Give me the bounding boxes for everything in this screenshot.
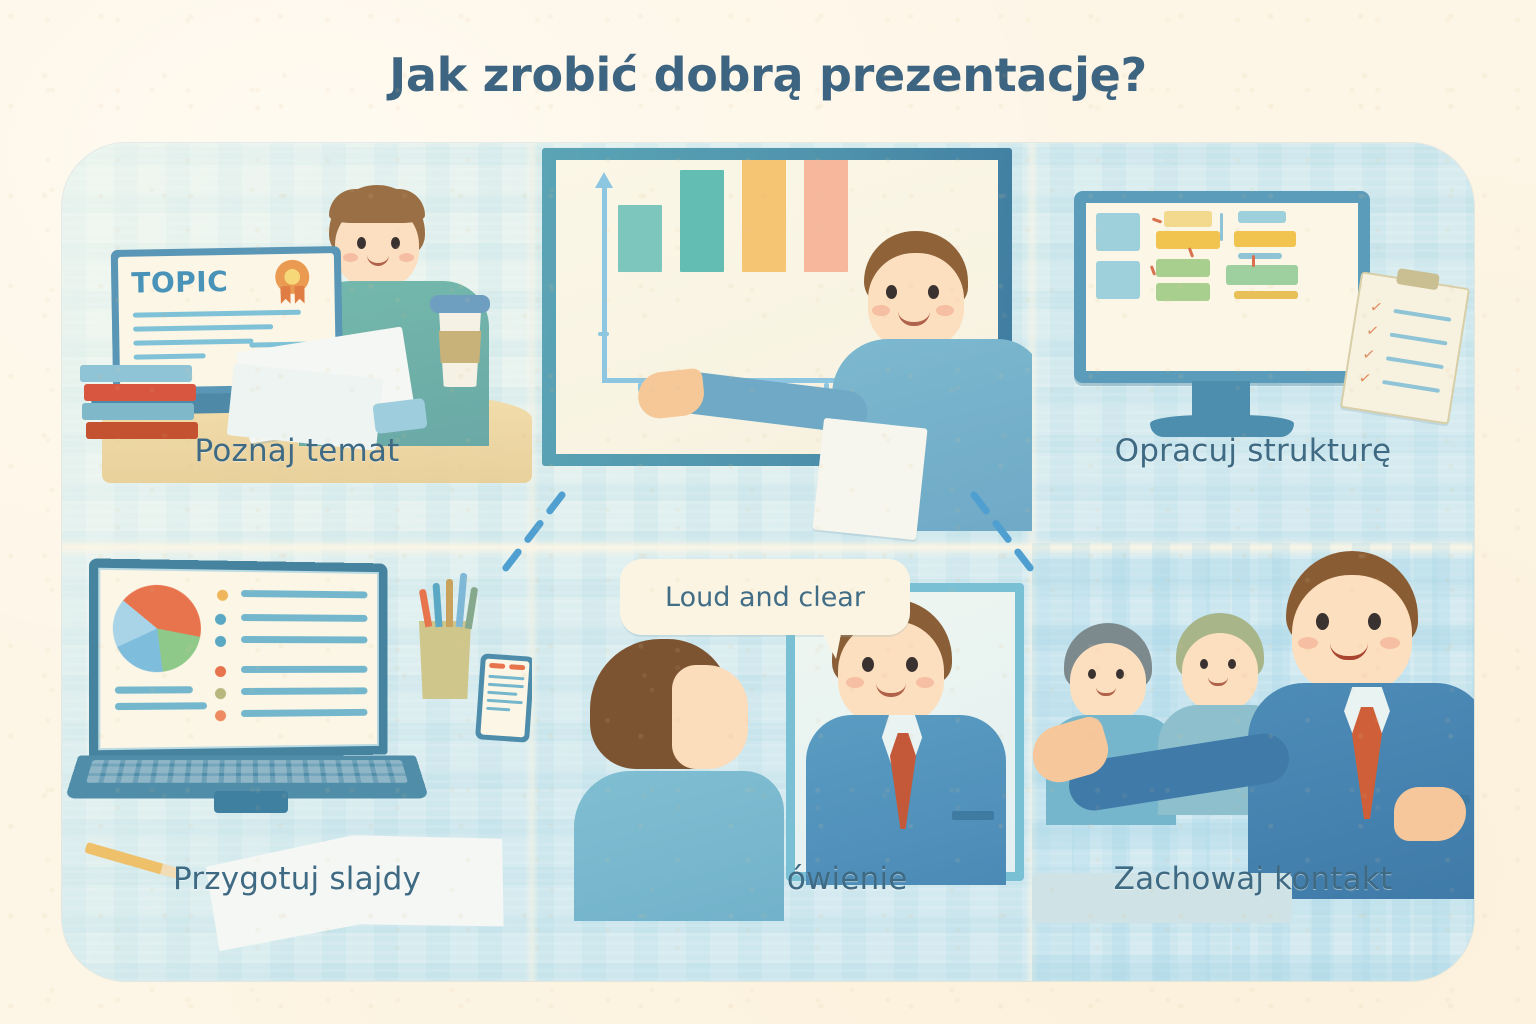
wireframe-block — [1156, 231, 1220, 249]
text-line — [115, 702, 207, 710]
presenter-icon — [828, 231, 1032, 531]
panel-label-build-structure: Opracuj strukturę — [1032, 433, 1474, 469]
infographic-board: TOPIC — [62, 143, 1474, 981]
wireframe-block — [1234, 231, 1296, 247]
check-mark-icon: ✓ — [1365, 321, 1380, 341]
smartphone-icon — [372, 398, 427, 434]
cup-sleeve — [437, 331, 483, 363]
panel-keep-contact[interactable]: Zachowaj kontakt — [1032, 543, 1474, 981]
face — [1292, 575, 1412, 693]
panel-label-know-topic: Poznaj temat — [62, 433, 532, 469]
blush-right — [936, 305, 954, 316]
eye-right — [1228, 659, 1236, 669]
bullet-line — [241, 709, 367, 717]
wireframe-block — [1234, 291, 1298, 299]
checklist-line — [1386, 356, 1444, 369]
eye-right — [391, 237, 400, 249]
eye-left — [1316, 613, 1329, 630]
bullet-dot — [215, 614, 226, 625]
panel-build-structure[interactable]: ✓ ✓ ✓ ✓ Opracuj strukturę — [1032, 143, 1474, 543]
eye-right — [906, 657, 918, 672]
book — [82, 403, 194, 420]
text-line — [486, 707, 510, 712]
blush-left — [846, 677, 864, 688]
clipboard-clamp — [1396, 268, 1440, 290]
y-axis — [602, 186, 607, 382]
keys — [86, 760, 408, 783]
bullet-dot — [215, 688, 226, 699]
text-line — [488, 675, 524, 681]
bullet-line — [241, 636, 367, 643]
pencil-icon — [432, 583, 442, 627]
speaker-icon — [1244, 551, 1474, 897]
text-line — [488, 683, 524, 689]
tablet-icon — [475, 653, 532, 743]
blush-left — [872, 305, 890, 316]
checklist-line — [1393, 309, 1451, 322]
pencil-icon — [465, 587, 478, 630]
panel-practice-speaking[interactable]: Loud and clear Ćwicz mówienie — [532, 543, 1032, 981]
text-line — [487, 691, 517, 696]
rosette-ribbon-left — [280, 286, 290, 304]
wireframe-block — [1226, 265, 1298, 285]
pencil-cup-icon — [414, 621, 476, 699]
laptop-icon — [89, 558, 388, 759]
eye-left — [1200, 659, 1208, 669]
bar-1 — [618, 205, 662, 272]
bullet-dot — [215, 666, 226, 677]
books-icon — [80, 365, 200, 435]
face — [868, 253, 964, 349]
speech-bubble-icon: Loud and clear — [620, 559, 910, 635]
panel-label-keep-contact: Zachowaj kontakt — [1032, 861, 1474, 897]
trackpad — [214, 791, 288, 813]
eye-right — [1368, 613, 1381, 630]
connector-arrow — [1252, 255, 1255, 267]
pocket — [952, 811, 994, 820]
connector-line — [1220, 213, 1223, 241]
pencil-icon — [446, 579, 453, 627]
eye-right — [1116, 669, 1124, 679]
text-line — [133, 339, 253, 346]
wireframe-block — [1238, 211, 1286, 223]
panel-prepare-slides[interactable]: Przygotuj slajdy — [62, 543, 532, 981]
eye-left — [886, 285, 897, 299]
handout-icon — [812, 418, 927, 540]
text-line — [509, 664, 525, 670]
text-line — [134, 353, 206, 359]
bullet-dot — [215, 636, 226, 647]
rosette-ribbon-right — [294, 286, 304, 304]
gesture-hand-icon — [1394, 787, 1466, 841]
speech-bubble-text: Loud and clear — [665, 582, 865, 613]
monitor-screen — [1086, 203, 1358, 371]
laptop-screen — [98, 568, 379, 750]
blush-right — [1380, 637, 1400, 649]
text-line — [487, 699, 523, 705]
clipboard-checklist-icon: ✓ ✓ ✓ ✓ — [1340, 271, 1470, 425]
bullet-line — [241, 666, 367, 673]
desktop-monitor-icon — [1074, 191, 1370, 383]
bullet-line — [241, 614, 367, 622]
eye-left — [1088, 669, 1096, 679]
cup-lid — [430, 295, 490, 313]
check-mark-icon: ✓ — [1369, 297, 1384, 317]
eye-left — [357, 237, 366, 249]
wireframe-block — [1156, 259, 1210, 277]
connector-arrow — [1152, 217, 1162, 223]
tablet-screen — [480, 659, 529, 738]
checklist-line — [1382, 380, 1440, 393]
face — [838, 621, 944, 725]
panel-label-prepare-slides: Przygotuj slajdy — [62, 861, 532, 897]
topic-label: TOPIC — [131, 265, 228, 300]
text-line — [489, 663, 505, 669]
eye-right — [928, 285, 939, 299]
face-profile — [672, 665, 748, 769]
blush-left — [1298, 637, 1318, 649]
hair-fringe — [329, 189, 425, 223]
blush-right — [916, 677, 934, 688]
coffee-cup-icon — [430, 295, 490, 387]
bullet-dot — [217, 590, 228, 601]
pie-chart-icon — [113, 584, 201, 672]
page-title: Jak zrobić dobrą prezentację? — [0, 48, 1536, 102]
blush-left — [343, 253, 358, 262]
text-line — [133, 324, 273, 331]
image-block — [1096, 261, 1140, 299]
text-line — [115, 686, 193, 694]
check-mark-icon: ✓ — [1361, 345, 1376, 365]
bar-2 — [680, 170, 724, 272]
monitor-neck — [1192, 381, 1250, 419]
award-rosette-icon — [272, 260, 313, 301]
bar-3 — [742, 160, 786, 272]
person-back-icon — [590, 639, 780, 889]
eye-left — [862, 657, 874, 672]
check-mark-icon: ✓ — [1357, 368, 1372, 388]
wireframe-block — [1238, 253, 1282, 259]
image-block — [1096, 213, 1140, 251]
wireframe-block — [1156, 283, 1210, 301]
bullet-line — [241, 590, 367, 598]
blush-right — [399, 253, 414, 262]
y-tick — [598, 332, 609, 336]
checklist-line — [1390, 333, 1448, 346]
book — [80, 365, 192, 382]
bullet-line — [241, 687, 367, 695]
face — [1070, 643, 1146, 721]
text-line — [133, 310, 301, 318]
bullet-dot — [215, 710, 226, 721]
book — [84, 384, 196, 401]
torso — [574, 771, 784, 921]
panel-know-topic[interactable]: TOPIC — [62, 143, 532, 543]
panel-presenting[interactable] — [532, 143, 1032, 543]
wireframe-block — [1164, 211, 1212, 227]
